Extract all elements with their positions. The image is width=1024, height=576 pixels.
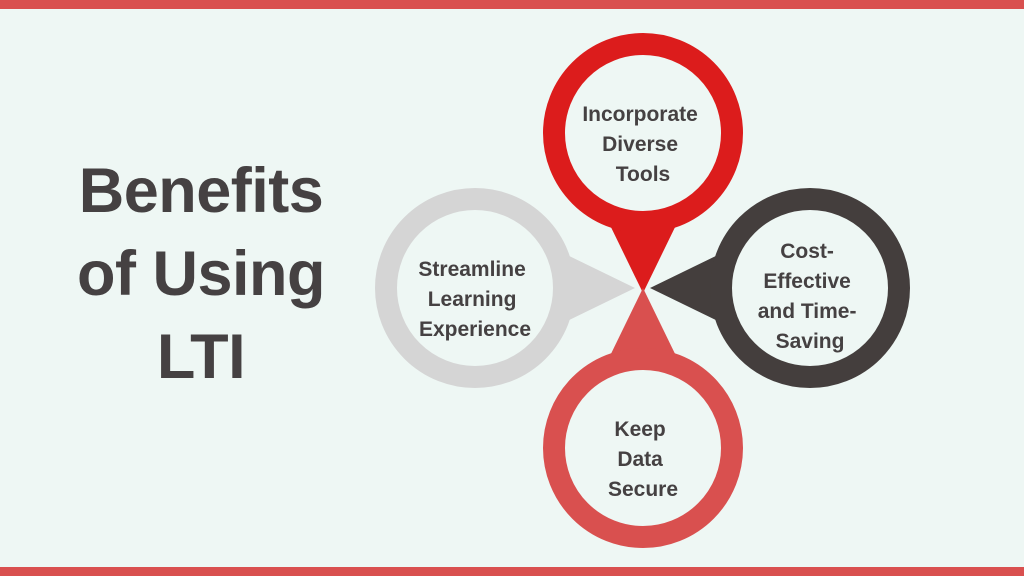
pin-bottom-line-3: Secure [608, 478, 678, 501]
pin-cost-effective-time-saving[interactable]: Cost- Effective and Time- Saving [650, 199, 899, 377]
pin-incorporate-diverse-tools[interactable]: Incorporate Diverse Tools [554, 44, 732, 293]
svg-text:Incorporate Diverse: Incorporate Diverse Tools [582, 103, 703, 186]
pin-right-line-3: and Time- [758, 300, 857, 323]
pin-streamline-learning-experience[interactable]: Streamline Learning Experience [386, 199, 635, 377]
bottom-accent-bar [0, 567, 1024, 576]
page-title-line-1: Benefits [36, 150, 366, 233]
svg-text:Cost- Effective: Cost- Effective and Time- Saving [758, 240, 863, 353]
benefits-pinwheel-diagram: Incorporate Diverse Tools Cost- Effectiv… [360, 8, 940, 568]
pin-top-line-2: Diverse [602, 133, 678, 156]
pin-left-line-2: Learning [428, 288, 517, 311]
pin-right-line-1: Cost- [780, 240, 834, 263]
svg-text:Keep Data: Keep Data Secure [608, 418, 678, 501]
pin-left-line-3: Experience [419, 318, 531, 341]
svg-text:Streamline Learning: Streamline Learning Experience [418, 258, 531, 341]
pin-keep-data-secure[interactable]: Keep Data Secure [554, 288, 732, 537]
page-title-line-3: LTI [36, 316, 366, 399]
pin-bottom-line-1: Keep [614, 418, 665, 441]
pin-bottom-line-2: Data [617, 448, 663, 471]
pin-top-line-3: Tools [616, 163, 670, 186]
page-title-line-2: of Using [36, 233, 366, 316]
pin-top-line-1: Incorporate [582, 103, 698, 126]
pin-right-line-2: Effective [763, 270, 851, 293]
slide-canvas: Benefits of Using LTI Incorporate [0, 0, 1024, 576]
pin-right-line-4: Saving [776, 330, 845, 353]
page-title: Benefits of Using LTI [36, 150, 366, 399]
pin-left-line-1: Streamline [418, 258, 525, 281]
